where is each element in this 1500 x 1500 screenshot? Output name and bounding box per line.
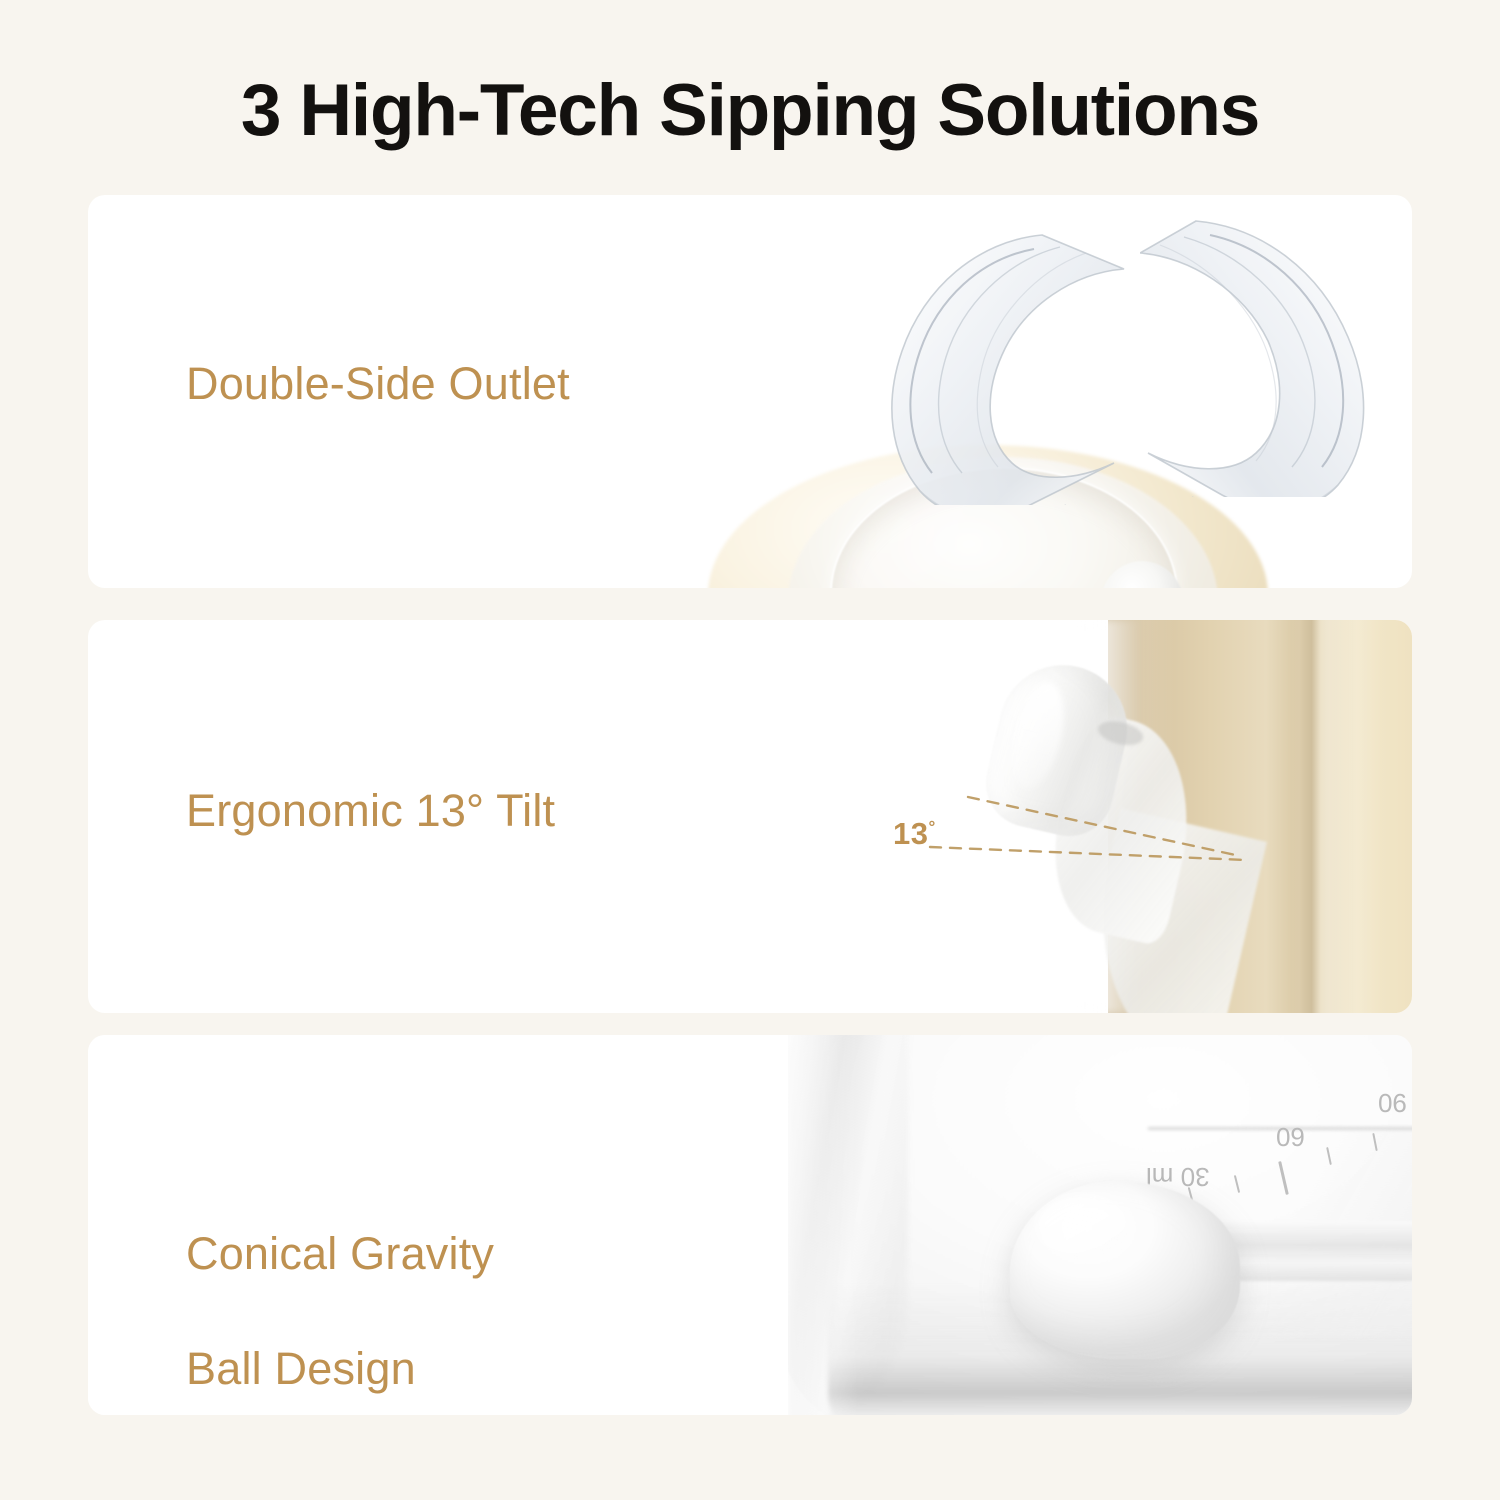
scale-label-60: 60 [1276,1121,1305,1152]
gravity-ball-highlight [1036,1195,1132,1259]
feature-label-gravity-ball-line1: Conical Gravity [186,1228,494,1279]
angle-value-label: 13° [893,816,936,852]
scale-label-90: 90 [1378,1087,1407,1118]
water-stream-right-icon [1140,197,1412,497]
feature-label-gravity-ball: Conical Gravity Ball Design [186,1167,494,1397]
tilted-silicone-nipple [939,638,1260,989]
feature-label-double-side-outlet: Double-Side Outlet [186,355,570,413]
feature-card-gravity-ball: 30 ml 60 90 Conical Gravity Ball Design [88,1035,1412,1415]
feature-card-double-side-outlet: Double-Side Outlet [88,195,1412,588]
feature-card-ergonomic-tilt: 13° Ergonomic 13° Tilt [88,620,1412,1013]
feature-label-gravity-ball-line2: Ball Design [186,1343,416,1394]
angle-value: 13 [893,816,928,851]
feature-label-ergonomic-tilt: Ergonomic 13° Tilt [186,782,555,840]
photo-left-fade [748,1035,858,1415]
angle-unit: ° [928,818,935,837]
page-title: 3 High-Tech Sipping Solutions [0,74,1500,147]
